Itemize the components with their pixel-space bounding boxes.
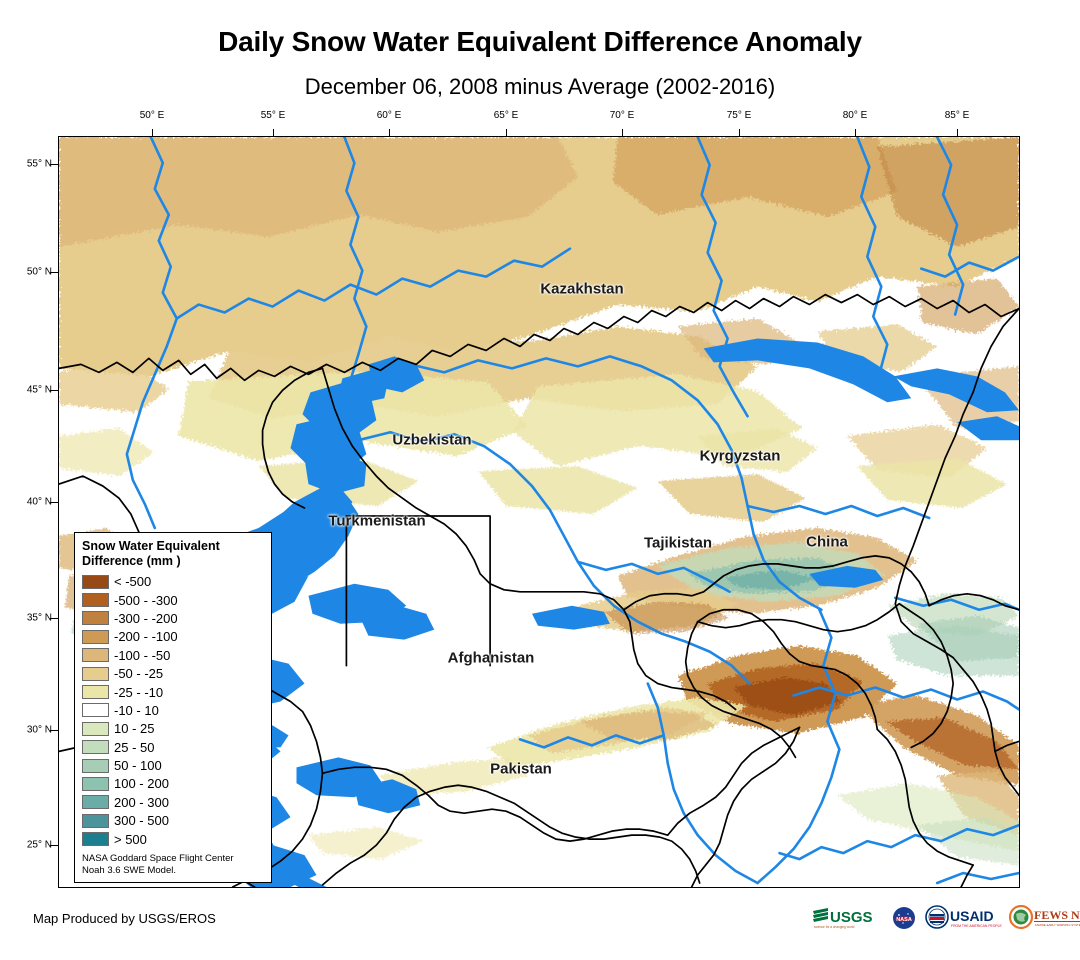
legend-source-line1: NASA Goddard Space Flight Center [82, 853, 234, 864]
legend-row: -300 - -200 [82, 609, 265, 627]
agency-logos: USGS science for a changing world NASA U… [812, 900, 1080, 936]
latitude-label: 35° N [22, 613, 52, 624]
latitude-tick [50, 164, 58, 165]
legend-swatch [82, 575, 109, 589]
latitude-label: 55° N [22, 159, 52, 170]
legend-swatch [82, 630, 109, 644]
page-subtitle: December 06, 2008 minus Average (2002-20… [0, 74, 1080, 100]
legend-label: > 500 [114, 833, 147, 846]
legend-label: -100 - -50 [114, 649, 170, 662]
legend-swatch [82, 611, 109, 625]
legend-row: 25 - 50 [82, 738, 265, 756]
legend-title: Snow Water Equivalent Difference (mm ) [82, 539, 265, 569]
latitude-tick [50, 845, 58, 846]
longitude-tick [622, 129, 623, 136]
map-page: Daily Snow Water Equivalent Difference A… [0, 0, 1080, 960]
legend-panel: Snow Water Equivalent Difference (mm ) <… [74, 532, 272, 883]
longitude-label: 80° E [843, 110, 868, 121]
legend-row: -50 - -25 [82, 664, 265, 682]
longitude-label: 50° E [140, 110, 165, 121]
longitude-tick [506, 129, 507, 136]
latitude-tick [50, 618, 58, 619]
legend-label: < -500 [114, 575, 151, 588]
longitude-tick [273, 129, 274, 136]
legend-title-line1: Snow Water Equivalent [82, 539, 220, 553]
usgs-logo[interactable]: USGS science for a changing world [812, 905, 884, 931]
nasa-logo[interactable]: NASA [891, 905, 917, 931]
legend-swatch [82, 832, 109, 846]
legend-label: -50 - -25 [114, 667, 163, 680]
legend-label: 10 - 25 [114, 722, 154, 735]
longitude-label: 60° E [377, 110, 402, 121]
svg-text:FAMINE EARLY WARNING SYSTEMS N: FAMINE EARLY WARNING SYSTEMS NETWORK [1035, 923, 1080, 927]
legend-row: 50 - 100 [82, 756, 265, 774]
legend-swatch [82, 593, 109, 607]
svg-text:FEWS NET: FEWS NET [1034, 908, 1080, 922]
svg-text:USGS: USGS [830, 909, 873, 926]
latitude-tick [50, 272, 58, 273]
legend-label: 200 - 300 [114, 796, 169, 809]
legend-label: 25 - 50 [114, 741, 154, 754]
latitude-label: 30° N [22, 725, 52, 736]
legend-label: -200 - -100 [114, 630, 178, 643]
longitude-label: 55° E [261, 110, 286, 121]
legend-swatch [82, 722, 109, 736]
legend-row: 10 - 25 [82, 720, 265, 738]
page-title: Daily Snow Water Equivalent Difference A… [0, 26, 1080, 58]
svg-text:NASA: NASA [896, 917, 912, 923]
longitude-label: 70° E [610, 110, 635, 121]
longitude-tick [152, 129, 153, 136]
legend-row: -200 - -100 [82, 628, 265, 646]
legend-swatch [82, 759, 109, 773]
legend-swatch [82, 740, 109, 754]
longitude-label: 85° E [945, 110, 970, 121]
legend-swatch [82, 795, 109, 809]
legend-source: NASA Goddard Space Flight Center Noah 3.… [82, 853, 265, 877]
map-credit: Map Produced by USGS/EROS [33, 911, 216, 926]
legend-row: > 500 [82, 830, 265, 848]
legend-swatch [82, 667, 109, 681]
legend-label: -25 - -10 [114, 686, 163, 699]
legend-title-line2: Difference (mm ) [82, 554, 181, 568]
longitude-tick [957, 129, 958, 136]
latitude-tick [50, 730, 58, 731]
latitude-tick [50, 502, 58, 503]
fewsnet-logo[interactable]: FEWS NET FAMINE EARLY WARNING SYSTEMS NE… [1009, 905, 1080, 931]
legend-label: -300 - -200 [114, 612, 178, 625]
legend-items: < -500-500 - -300-300 - -200-200 - -100-… [82, 573, 265, 849]
legend-label: 300 - 500 [114, 814, 169, 827]
longitude-tick [739, 129, 740, 136]
latitude-tick [50, 390, 58, 391]
longitude-label: 65° E [494, 110, 519, 121]
legend-label: 100 - 200 [114, 777, 169, 790]
latitude-label: 45° N [22, 385, 52, 396]
legend-label: -500 - -300 [114, 594, 178, 607]
legend-swatch [82, 777, 109, 791]
legend-row: -100 - -50 [82, 646, 265, 664]
legend-row: -500 - -300 [82, 591, 265, 609]
svg-text:science for a changing world: science for a changing world [814, 925, 855, 929]
legend-row: 300 - 500 [82, 812, 265, 830]
longitude-tick [855, 129, 856, 136]
legend-label: -10 - 10 [114, 704, 159, 717]
svg-text:FROM THE AMERICAN PEOPLE: FROM THE AMERICAN PEOPLE [951, 924, 1002, 928]
legend-row: 200 - 300 [82, 793, 265, 811]
longitude-label: 75° E [727, 110, 752, 121]
legend-swatch [82, 648, 109, 662]
legend-row: < -500 [82, 573, 265, 591]
latitude-label: 40° N [22, 497, 52, 508]
legend-swatch [82, 703, 109, 717]
latitude-label: 50° N [22, 267, 52, 278]
legend-source-line2: Noah 3.6 SWE Model. [82, 865, 176, 876]
latitude-label: 25° N [22, 840, 52, 851]
legend-swatch [82, 685, 109, 699]
legend-row: -25 - -10 [82, 683, 265, 701]
svg-text:USAID: USAID [950, 908, 994, 924]
usaid-logo[interactable]: USAID FROM THE AMERICAN PEOPLE [924, 905, 1002, 931]
legend-swatch [82, 814, 109, 828]
legend-row: -10 - 10 [82, 701, 265, 719]
legend-label: 50 - 100 [114, 759, 162, 772]
longitude-tick [389, 129, 390, 136]
legend-row: 100 - 200 [82, 775, 265, 793]
